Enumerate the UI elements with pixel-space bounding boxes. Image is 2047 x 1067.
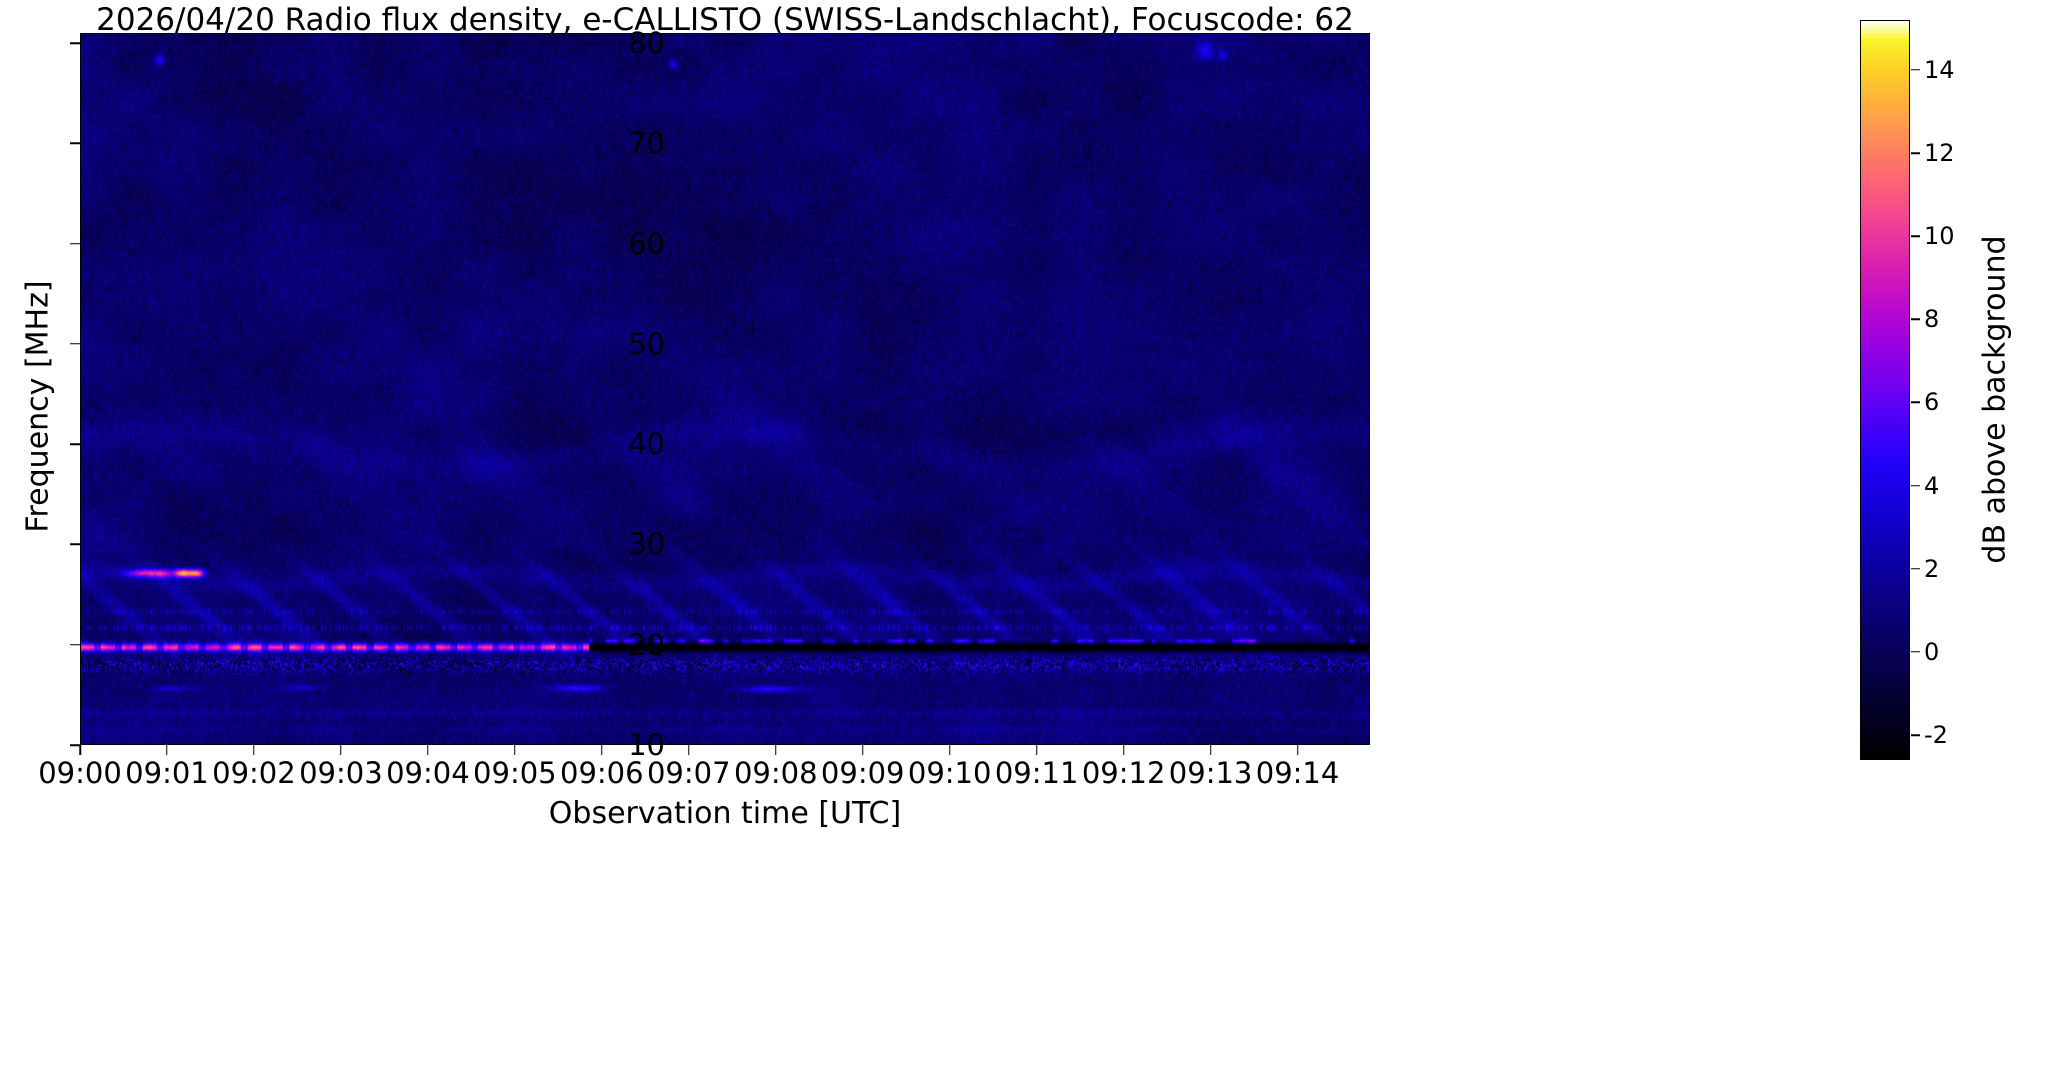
colorbar-tick-mark	[1911, 651, 1920, 653]
x-axis-tick-label: 09:06	[560, 756, 644, 790]
x-axis-tick-mark	[1297, 745, 1299, 755]
x-axis-tick-label: 09:07	[647, 756, 731, 790]
x-axis-tick-mark	[1036, 745, 1038, 755]
colorbar-gradient	[1861, 21, 1909, 759]
colorbar-tick-label: 8	[1924, 305, 1939, 333]
colorbar-tick-mark	[1911, 235, 1920, 237]
x-axis-tick-mark	[1123, 745, 1125, 755]
colorbar-tick-mark	[1911, 485, 1920, 487]
x-axis-tick-mark	[253, 745, 255, 755]
x-axis-tick-mark	[1210, 745, 1212, 755]
colorbar-label: dB above background	[1978, 50, 2013, 750]
colorbar-tick-label: 10	[1924, 222, 1955, 250]
y-axis-tick-mark	[70, 343, 80, 345]
spectrogram-plot-area[interactable]	[80, 33, 1370, 745]
x-axis-tick-mark	[601, 745, 603, 755]
y-axis-tick-label: 50	[628, 327, 665, 361]
x-axis-tick-label: 09:05	[473, 756, 557, 790]
x-axis-tick-label: 09:09	[821, 756, 905, 790]
x-axis-tick-label: 09:10	[908, 756, 992, 790]
colorbar-tick-mark	[1911, 568, 1920, 570]
y-axis-tick-mark	[70, 143, 80, 145]
x-axis-tick-mark	[79, 745, 81, 755]
y-axis-tick-mark	[70, 544, 80, 546]
colorbar-tick-mark	[1911, 319, 1920, 321]
x-axis-tick-label: 09:00	[38, 756, 122, 790]
y-axis-tick-mark	[70, 443, 80, 445]
x-axis-tick-label: 09:14	[1256, 756, 1340, 790]
colorbar-tick-mark	[1911, 402, 1920, 404]
spectrogram-figure: 2026/04/20 Radio flux density, e-CALLIST…	[0, 0, 2047, 1067]
colorbar-tick-mark	[1911, 734, 1920, 736]
colorbar-tick-mark	[1911, 69, 1920, 71]
x-axis-tick-label: 09:12	[1082, 756, 1166, 790]
x-axis-tick-mark	[949, 745, 951, 755]
x-axis-label: Observation time [UTC]	[80, 796, 1370, 831]
x-axis-tick-mark	[340, 745, 342, 755]
colorbar-tick-label: 2	[1924, 555, 1939, 583]
x-axis-tick-label: 09:03	[299, 756, 383, 790]
x-axis-tick-mark	[862, 745, 864, 755]
y-axis-tick-mark	[70, 644, 80, 646]
x-axis-tick-label: 09:02	[212, 756, 296, 790]
colorbar-tick-label: 14	[1924, 56, 1955, 84]
colorbar[interactable]	[1860, 20, 1910, 760]
x-axis-tick-label: 09:04	[386, 756, 470, 790]
colorbar-tick-label: 6	[1924, 388, 1939, 416]
y-axis-tick-label: 70	[628, 126, 665, 160]
spectrogram-image	[81, 34, 1369, 744]
x-axis-tick-label: 09:01	[125, 756, 209, 790]
y-axis-tick-label: 30	[628, 527, 665, 561]
x-axis-tick-label: 09:08	[734, 756, 818, 790]
colorbar-tick-mark	[1911, 152, 1920, 154]
x-axis-tick-label: 09:11	[995, 756, 1079, 790]
colorbar-tick-label: 4	[1924, 472, 1939, 500]
x-axis-tick-mark	[775, 745, 777, 755]
y-axis-tick-label: 60	[628, 227, 665, 261]
colorbar-tick-label: 12	[1924, 139, 1955, 167]
y-axis-tick-mark	[70, 243, 80, 245]
y-axis-tick-mark	[70, 42, 80, 44]
x-axis-tick-mark	[688, 745, 690, 755]
y-axis-tick-label: 40	[628, 427, 665, 461]
y-axis-tick-label: 20	[628, 628, 665, 662]
x-axis-tick-mark	[514, 745, 516, 755]
x-axis-tick-mark	[427, 745, 429, 755]
y-axis-label: Frequency [MHz]	[21, 87, 56, 727]
colorbar-tick-label: -2	[1924, 721, 1948, 749]
colorbar-tick-label: 0	[1924, 638, 1939, 666]
x-axis-tick-mark	[166, 745, 168, 755]
y-axis-tick-label: 80	[628, 26, 665, 60]
x-axis-tick-label: 09:13	[1169, 756, 1253, 790]
